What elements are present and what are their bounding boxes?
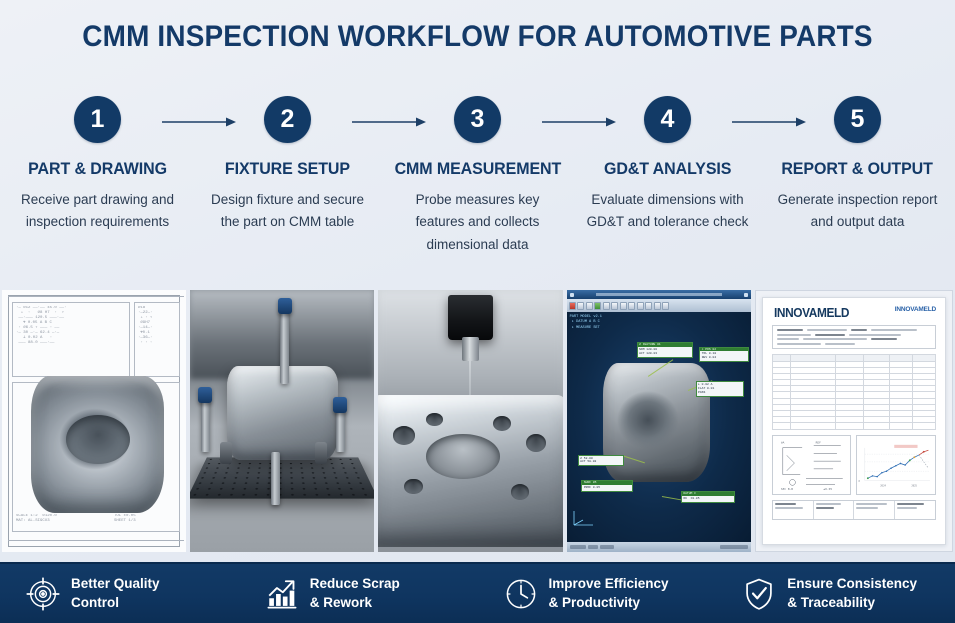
blueprint-titleblock-left: SCALE 1:2 ⌀120.0 MAT: AL-SI9CU3 [16, 514, 96, 530]
panel-part-drawing-photo: ·— ⌀12 ——·—— 45.0 ——· ▵ ◦ ⌀8 H7 ◦ ▿ ——·—… [2, 290, 186, 552]
window-close-icon[interactable] [744, 293, 748, 297]
probe-photo [378, 290, 562, 552]
fixture-post-left [201, 395, 210, 453]
report-footer-cell-2 [814, 501, 855, 519]
toolbar-icon-11[interactable] [654, 302, 661, 310]
window-title-placeholder [596, 293, 722, 296]
statusbar-cell-3 [600, 545, 614, 549]
housing-hole-2 [426, 413, 443, 426]
fixture-photo [190, 290, 374, 552]
report-charts-row: ⌀AREF SEC B-B±0.05 [772, 435, 936, 495]
target-icon [26, 577, 60, 611]
step-description-2: Design fixture and secure the part on CM… [200, 189, 375, 234]
trend-chart-svg: 020242025 [857, 436, 935, 494]
toolbar-icon-10[interactable] [645, 302, 652, 310]
panel-inspection-report-document: INNOVAMELD INNOVAMELD [755, 290, 953, 552]
step-description-5: Generate inspection report and output da… [770, 189, 945, 234]
sketch-diagram-svg: ⌀AREF SEC B-B±0.05 [773, 436, 851, 494]
fixture-clamp-left [220, 442, 232, 464]
step-title-2: FIXTURE SETUP [225, 160, 350, 179]
step-number-badge-1: 1 [74, 96, 121, 143]
report-logo-secondary: INNOVAMELD [895, 306, 936, 313]
workflow-step-5[interactable]: 5 REPORT & OUTPUT Generate inspection re… [770, 96, 945, 234]
step-description-3: Probe measures key features and collects… [390, 189, 565, 256]
cmm-probe-head [448, 295, 492, 340]
blueprint-titleblock-right: TOL ±0.05 SHEET 1/3 [114, 514, 180, 530]
gdt-callout-5: SURF 05PROF 0.05 [581, 480, 633, 492]
step-number-badge-5: 5 [834, 96, 881, 143]
report-footer-cell-1 [773, 501, 814, 519]
report-meta-row-1 [777, 329, 931, 331]
feature-tree-text: PART MODEL v2.1 ▸ DATUM A B C ▸ MEASURE … [570, 315, 602, 331]
fixture-base-plate [190, 458, 374, 500]
step-number-badge-4: 4 [644, 96, 691, 143]
coordinate-axes-icon [571, 508, 597, 528]
gdt-callout-4: ⌀ 58.00 ACT 58.02 [578, 455, 624, 467]
blueprint-annotations-side: ⌀18 ·—22—· ▵ ◦ ▿ ⌀9H7 ·—14—· ⌖0.1 ·—36—·… [138, 306, 178, 374]
benefit-reduce-scrap-rework[interactable]: Reduce Scrap & Rework [239, 575, 478, 611]
report-meta-block [772, 325, 936, 349]
toolbar-icon-8[interactable] [628, 302, 635, 310]
statusbar-cell-2 [588, 545, 598, 549]
blueprint-rule-1 [8, 296, 184, 297]
statusbar-cell-1 [570, 545, 586, 549]
report-footer-cell-4 [895, 501, 935, 519]
report-footer [772, 500, 936, 520]
fixture-knob-top [278, 298, 292, 314]
toolbar-icon-9[interactable] [637, 302, 644, 310]
step-description-1: Receive part drawing and inspection requ… [10, 189, 185, 234]
svg-text:REF: REF [815, 440, 820, 444]
benefit-label-2: Reduce Scrap & Rework [310, 575, 400, 611]
benefit-label-4: Ensure Consistency & Traceability [787, 575, 917, 611]
step-title-4: GD&T ANALYSIS [604, 160, 731, 179]
software-titlebar [567, 290, 751, 299]
benefit-improve-efficiency-productivity[interactable]: Improve Efficiency & Productivity [478, 575, 717, 611]
bar-chart-growth-icon [265, 577, 299, 611]
toolbar-icon-12[interactable] [662, 302, 669, 310]
gdt-callout-1: ⌀ FEATURE 01NOM 120.00 ACT 120.03 [637, 342, 693, 358]
clock-icon [504, 577, 538, 611]
toolbar-icon-7[interactable] [620, 302, 627, 310]
housing-hole-1 [393, 426, 415, 444]
toolbar-icon-3[interactable] [586, 302, 593, 310]
step-title-5: REPORT & OUTPUT [782, 160, 933, 179]
toolbar-icon-4[interactable] [594, 302, 601, 310]
table-row [772, 423, 935, 429]
workflow-step-1[interactable]: 1 PART & DRAWING Receive part drawing an… [10, 96, 185, 234]
rendered-housing-model [31, 376, 164, 512]
statusbar-cell-4 [720, 545, 748, 549]
housing-hole-6 [511, 484, 529, 500]
software-statusbar [567, 542, 751, 552]
report-sketch-diagram: ⌀AREF SEC B-B±0.05 [772, 435, 852, 495]
panel-strip: ·— ⌀12 ——·—— 45.0 ——· ▵ ◦ ⌀8 H7 ◦ ▿ ——·—… [0, 290, 955, 552]
toolbar-icon-6[interactable] [611, 302, 618, 310]
benefit-label-3: Improve Efficiency & Productivity [549, 575, 669, 611]
metrology-software-window: PART MODEL v2.1 ▸ DATUM A B C ▸ MEASURE … [567, 290, 751, 552]
panel-gdt-analysis-screenshot: PART MODEL v2.1 ▸ DATUM A B C ▸ MEASURE … [567, 290, 751, 552]
fixture-plate-hole-grid [190, 458, 374, 500]
software-toolbar[interactable] [567, 299, 751, 312]
benefit-ensure-consistency-traceability[interactable]: Ensure Consistency & Traceability [716, 575, 955, 611]
gdt-callout-6: DATUM COK ±0.05 [681, 491, 735, 503]
report-meta-row-2 [777, 334, 931, 336]
toolbar-icon-1[interactable] [569, 302, 576, 310]
report-footer-cell-3 [854, 501, 895, 519]
fixture-clamp-right [315, 442, 327, 464]
workflow-step-4[interactable]: 4 GD&T ANALYSIS Evaluate dimensions with… [580, 96, 755, 234]
report-measurement-table [772, 354, 936, 430]
panel-fixture-setup-photo [190, 290, 374, 552]
toolbar-icon-2[interactable] [577, 302, 584, 310]
software-3d-viewport[interactable]: PART MODEL v2.1 ▸ DATUM A B C ▸ MEASURE … [567, 312, 751, 542]
report-meta-row-3 [777, 338, 931, 340]
step-number-badge-3: 3 [454, 96, 501, 143]
step-number-badge-2: 2 [264, 96, 311, 143]
blueprint-rule-2 [8, 540, 184, 541]
inspection-report-sheet: INNOVAMELD INNOVAMELD [762, 297, 946, 545]
step-description-4: Evaluate dimensions with GD&T and tolera… [580, 189, 755, 234]
workflow-steps: 1 PART & DRAWING Receive part drawing an… [0, 96, 955, 271]
report-meta-row-4 [777, 343, 931, 345]
blueprint-annotations-top: ·— ⌀12 ——·—— 45.0 ——· ▵ ◦ ⌀8 H7 ◦ ▿ ——·—… [16, 306, 126, 374]
housing-bore [426, 434, 500, 479]
table-header-row [772, 354, 935, 361]
panel-cmm-measurement-photo [378, 290, 562, 552]
fixture-post-front [271, 452, 280, 504]
svg-text:±0.05: ±0.05 [823, 487, 832, 491]
benefit-label-1: Better Quality Control [71, 575, 160, 611]
shield-check-icon [742, 577, 776, 611]
svg-text:0: 0 [859, 480, 861, 483]
fixture-knob-left [198, 387, 212, 403]
benefits-bar: Better Quality Control Reduce Scrap & Re… [0, 562, 955, 623]
step-title-3: CMM MEASUREMENT [394, 160, 561, 179]
gdt-callout-2: ⌖ POS 02TOL 0.10 DEV 0.04 [699, 347, 749, 363]
step-title-1: PART & DRAWING [28, 160, 167, 179]
gdt-callout-3: ⊥ 0.02 A FLAT 0.01 PASS [696, 381, 744, 397]
blueprint-sheet: ·— ⌀12 ——·—— 45.0 ——· ▵ ◦ ⌀8 H7 ◦ ▿ ——·—… [2, 290, 186, 552]
svg-text:SEC B-B: SEC B-B [781, 487, 793, 491]
report-logo: INNOVAMELD [774, 306, 849, 320]
svg-text:2025: 2025 [912, 484, 918, 487]
workflow-step-3[interactable]: 3 CMM MEASUREMENT Probe measures key fea… [390, 96, 565, 256]
fixture-knob-right [333, 397, 347, 413]
report-trend-chart: 020242025 [856, 435, 936, 495]
svg-text:⌀A: ⌀A [781, 440, 785, 444]
toolbar-icon-5[interactable] [603, 302, 610, 310]
report-header: INNOVAMELD INNOVAMELD [772, 306, 936, 320]
workflow-step-2[interactable]: 2 FIXTURE SETUP Design fixture and secur… [200, 96, 375, 234]
benefit-better-quality-control[interactable]: Better Quality Control [0, 575, 239, 611]
svg-text:2024: 2024 [881, 484, 887, 487]
page-title: CMM INSPECTION WORKFLOW FOR AUTOMOTIVE P… [33, 20, 921, 54]
housing-hole-5 [404, 479, 422, 495]
infographic-root: CMM INSPECTION WORKFLOW FOR AUTOMOTIVE P… [0, 0, 955, 623]
window-icon [570, 293, 574, 297]
fixture-post-top [280, 306, 289, 385]
